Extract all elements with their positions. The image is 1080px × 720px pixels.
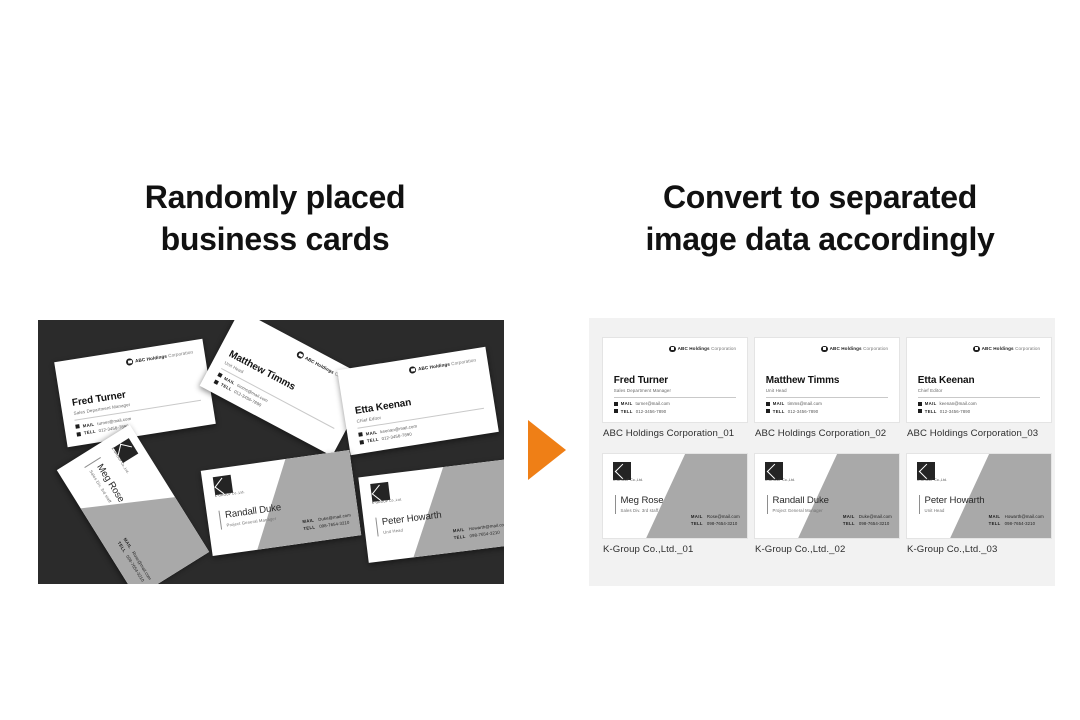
grid-row: ABC Holdings Corporation Fred Turner Sal… bbox=[603, 338, 1043, 440]
tell-value: 012-3456-7890 bbox=[940, 409, 970, 414]
card-contact: MAIL Rose@mail.com TELL 098-7654-3210 bbox=[691, 514, 740, 528]
mail-value: turner@mail.com bbox=[636, 401, 670, 406]
tell-label: TELL bbox=[621, 409, 633, 414]
card-thumbnail[interactable]: ABC Holdings Corporation Fred Turner Sal… bbox=[603, 338, 747, 422]
person-title: Project General Manager bbox=[773, 508, 829, 514]
square-bullet-icon bbox=[614, 409, 618, 413]
abc-holdings-logo: ABC Holdings Corporation bbox=[971, 346, 1040, 353]
mail-label: MAIL bbox=[621, 401, 633, 406]
tell-label: TELL bbox=[691, 521, 704, 526]
card-person: Matthew Timms Unit Head bbox=[766, 375, 840, 394]
square-bullet-icon bbox=[77, 431, 82, 436]
scattered-card[interactable]: K-GROUP Co.,Ltd. Randall Duke Project Ge… bbox=[201, 450, 362, 556]
mail-label: MAIL bbox=[453, 526, 467, 533]
tell-value: 098-7654-3210 bbox=[469, 529, 500, 538]
card-person: Fred Turner Sales Department Manager bbox=[614, 375, 671, 394]
scattered-card[interactable]: K-GROUP Co.,Ltd. Peter Howarth Unit Head… bbox=[358, 459, 504, 563]
card-thumbnail-item[interactable]: K-GROUP Co.,Ltd. Peter Howarth Unit Head… bbox=[907, 454, 1051, 556]
tell-label: TELL bbox=[773, 409, 785, 414]
mail-value: timms@mail.com bbox=[788, 401, 822, 406]
card-contact: MAIL turner@mail.com TELL 012-3456-7890 bbox=[614, 401, 670, 416]
mail-label: MAIL bbox=[302, 517, 316, 524]
card-filename-caption: K-Group Co.,Ltd._02 bbox=[755, 544, 899, 556]
card-thumbnail-item[interactable]: ABC Holdings Corporation Fred Turner Sal… bbox=[603, 338, 747, 440]
card-filename-caption: ABC Holdings Corporation_01 bbox=[603, 428, 747, 440]
tell-value: 012-3456-7890 bbox=[788, 409, 818, 414]
person-name: Matthew Timms bbox=[766, 375, 840, 387]
abc-holdings-logo: ABC Holdings Corporation bbox=[121, 348, 193, 366]
card-person: Meg Rose Sales Div. 3rd staff bbox=[615, 495, 664, 514]
card-contact: MAIL timms@mail.com TELL 012-3456-7890 bbox=[766, 401, 822, 416]
square-bullet-icon bbox=[918, 402, 922, 406]
tell-label: TELL bbox=[366, 437, 379, 444]
k-group-logo-icon bbox=[613, 462, 631, 480]
grid-row: K-GROUP Co.,Ltd. Meg Rose Sales Div. 3rd… bbox=[603, 454, 1043, 556]
square-bullet-icon bbox=[918, 409, 922, 413]
person-title: Unit Head bbox=[925, 508, 985, 514]
square-bullet-icon bbox=[766, 409, 770, 413]
card-thumbnail-item[interactable]: K-GROUP Co.,Ltd. Meg Rose Sales Div. 3rd… bbox=[603, 454, 747, 556]
brand-name: K-GROUP Co.,Ltd. bbox=[765, 478, 795, 482]
tell-value: 098-7654-3210 bbox=[1005, 521, 1035, 526]
brand-name: ABC Holdings Corporation bbox=[830, 346, 889, 351]
tell-label: TELL bbox=[989, 521, 1002, 526]
card-person: Etta Keenan Chief Editor bbox=[918, 375, 975, 394]
divider bbox=[766, 397, 888, 398]
left-panel-heading: Randomly placed business cards bbox=[40, 176, 510, 260]
k-group-logo-icon bbox=[765, 462, 783, 480]
brand-name: ABC Holdings Corporation bbox=[982, 346, 1041, 351]
mail-label: MAIL bbox=[989, 514, 1002, 519]
contact-tell-line: TELL 098-7654-3210 bbox=[843, 521, 892, 526]
separated-cards-panel: ABC Holdings Corporation Fred Turner Sal… bbox=[589, 318, 1055, 586]
mail-value: Howarth@mail.com bbox=[1005, 514, 1044, 519]
divider bbox=[918, 397, 1040, 398]
card-thumbnail-item[interactable]: K-GROUP Co.,Ltd. Randall Duke Project Ge… bbox=[755, 454, 899, 556]
scattered-cards-photo: ABC Holdings Corporation Fred Turner Sal… bbox=[38, 320, 504, 584]
tell-value: 012-3456-7890 bbox=[636, 409, 666, 414]
diagonal-wedge bbox=[201, 450, 362, 556]
person-name: Randall Duke bbox=[773, 495, 829, 507]
contact-mail-line: MAIL keenan@mail.com bbox=[918, 401, 977, 406]
tell-value: 098-7654-3210 bbox=[707, 521, 737, 526]
tell-label: TELL bbox=[453, 533, 467, 540]
abc-holdings-logo: ABC Holdings Corporation bbox=[667, 346, 736, 353]
square-bullet-icon bbox=[358, 432, 363, 437]
abc-holdings-logo: ABC Holdings Corporation bbox=[819, 346, 888, 353]
abc-holdings-logo: ABC Holdings Corporation bbox=[404, 356, 476, 374]
contact-mail-line: MAIL timms@mail.com bbox=[766, 401, 822, 406]
contact-tell-line: TELL 098-7654-3210 bbox=[989, 521, 1044, 526]
abc-holdings-logo-icon bbox=[821, 346, 828, 353]
card-person: Randall Duke Project General Manager bbox=[767, 495, 829, 514]
square-bullet-icon bbox=[766, 402, 770, 406]
tell-label: TELL bbox=[843, 521, 856, 526]
contact-mail-line: MAIL Rose@mail.com bbox=[691, 514, 740, 519]
mail-label: MAIL bbox=[691, 514, 704, 519]
abc-holdings-logo-icon bbox=[409, 366, 417, 374]
card-filename-caption: K-Group Co.,Ltd._03 bbox=[907, 544, 1051, 556]
mail-value: Duke@mail.com bbox=[859, 514, 892, 519]
person-name: Fred Turner bbox=[614, 375, 671, 387]
square-bullet-icon bbox=[614, 402, 618, 406]
square-bullet-icon bbox=[218, 372, 223, 377]
person-name: Etta Keenan bbox=[918, 375, 975, 387]
card-contact: MAIL Howarth@mail.com TELL 098-7654-3210 bbox=[989, 514, 1044, 528]
card-thumbnail[interactable]: ABC Holdings Corporation Etta Keenan Chi… bbox=[907, 338, 1051, 422]
tell-label: TELL bbox=[925, 409, 937, 414]
abc-holdings-logo-icon bbox=[973, 346, 980, 353]
card-thumbnail[interactable]: K-GROUP Co.,Ltd. Peter Howarth Unit Head… bbox=[907, 454, 1051, 538]
card-thumbnail[interactable]: K-GROUP Co.,Ltd. Meg Rose Sales Div. 3rd… bbox=[603, 454, 747, 538]
square-bullet-icon bbox=[75, 424, 80, 429]
mail-value: keenan@mail.com bbox=[940, 401, 977, 406]
card-thumbnail[interactable]: ABC Holdings Corporation Matthew Timms U… bbox=[755, 338, 899, 422]
scattered-card[interactable]: ABC Holdings Corporation Etta Keenan Chi… bbox=[337, 347, 499, 455]
square-bullet-icon bbox=[360, 439, 365, 444]
contact-mail-line: MAIL Duke@mail.com bbox=[843, 514, 892, 519]
contact-mail-line: MAIL turner@mail.com bbox=[614, 401, 670, 406]
card-contact: MAIL Duke@mail.com TELL 098-7654-3210 bbox=[843, 514, 892, 528]
brand-name: K-GROUP Co.,Ltd. bbox=[917, 478, 947, 482]
card-person: Peter Howarth Unit Head bbox=[919, 495, 985, 514]
card-filename-caption: ABC Holdings Corporation_03 bbox=[907, 428, 1051, 440]
contact-mail-line: MAIL Howarth@mail.com bbox=[989, 514, 1044, 519]
person-title: Sales Department Manager bbox=[614, 388, 671, 394]
card-thumbnail[interactable]: K-GROUP Co.,Ltd. Randall Duke Project Ge… bbox=[755, 454, 899, 538]
divider bbox=[614, 397, 736, 398]
card-filename-caption: K-Group Co.,Ltd._01 bbox=[603, 544, 747, 556]
person-title: Sales Div. 3rd staff bbox=[621, 508, 664, 514]
mail-value: Rose@mail.com bbox=[707, 514, 740, 519]
tell-label: TELL bbox=[303, 524, 317, 531]
brand-name: ABC Holdings Corporation bbox=[678, 346, 737, 351]
tell-value: 098-7654-3210 bbox=[859, 521, 889, 526]
contact-tell-line: TELL 012-3456-7890 bbox=[766, 409, 822, 414]
contact-tell-line: TELL 012-3456-7890 bbox=[614, 409, 670, 414]
tell-label: TELL bbox=[83, 429, 96, 436]
person-title: Chief Editor bbox=[918, 388, 975, 394]
card-filename-caption: ABC Holdings Corporation_02 bbox=[755, 428, 899, 440]
card-thumbnail-item[interactable]: ABC Holdings Corporation Matthew Timms U… bbox=[755, 338, 899, 440]
mail-label: MAIL bbox=[925, 401, 937, 406]
abc-holdings-logo-icon bbox=[126, 358, 134, 366]
contact-tell-line: TELL 012-3456-7890 bbox=[918, 409, 977, 414]
brand-name: ABC Holdings Corporation bbox=[418, 357, 477, 371]
mail-label: MAIL bbox=[82, 421, 94, 428]
scattered-card[interactable]: ABC Holdings Corporation Fred Turner Sal… bbox=[54, 339, 216, 447]
play-triangle-right-icon bbox=[528, 420, 566, 480]
brand-name: K-GROUP Co.,Ltd. bbox=[613, 478, 643, 482]
contact-tell-line: TELL 098-7654-3210 bbox=[691, 521, 740, 526]
card-contact: MAIL keenan@mail.com TELL 012-3456-7890 bbox=[918, 401, 977, 416]
abc-holdings-logo-icon bbox=[669, 346, 676, 353]
person-name: Meg Rose bbox=[621, 495, 664, 507]
brand-name: ABC Holdings Corporation bbox=[135, 349, 194, 363]
mail-label: MAIL bbox=[773, 401, 785, 406]
person-name: Peter Howarth bbox=[925, 495, 985, 507]
right-panel-heading: Convert to separated image data accordin… bbox=[585, 176, 1055, 260]
square-bullet-icon bbox=[214, 379, 219, 384]
k-group-logo-icon bbox=[917, 462, 935, 480]
card-thumbnail-item[interactable]: ABC Holdings Corporation Etta Keenan Chi… bbox=[907, 338, 1051, 440]
person-title: Unit Head bbox=[766, 388, 840, 394]
scattered-card[interactable]: K-GROUP Co.,Ltd. Meg Rose Sales Div. 3rd… bbox=[57, 425, 209, 584]
mail-label: MAIL bbox=[365, 429, 377, 436]
mail-label: MAIL bbox=[843, 514, 856, 519]
